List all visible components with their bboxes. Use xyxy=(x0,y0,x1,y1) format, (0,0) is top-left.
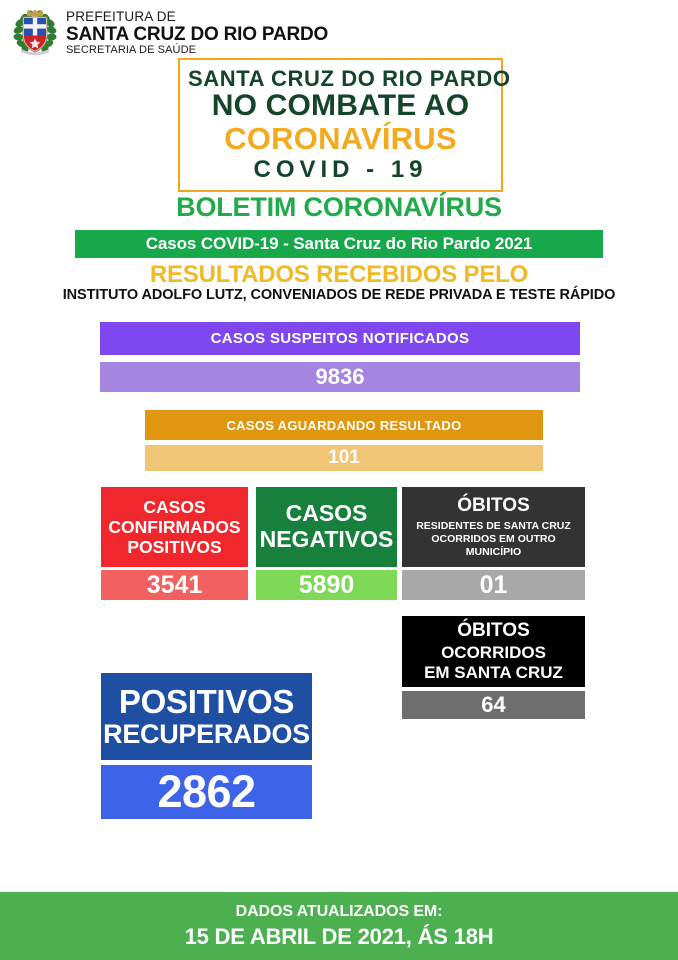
obitos-outro-label: ÓBITOS RESIDENTES DE SANTA CRUZ OCORRIDO… xyxy=(402,487,585,567)
coat-of-arms-icon xyxy=(13,9,57,57)
suspeitos-value-bar: 9836 xyxy=(100,362,580,392)
negativos-label: CASOS NEGATIVOS xyxy=(256,487,397,567)
suspeitos-label-bar: CASOS SUSPEITOS NOTIFICADOS xyxy=(100,322,580,355)
positivos-label: CASOS CONFIRMADOS POSITIVOS xyxy=(101,487,248,567)
negativos-label-line2: NEGATIVOS xyxy=(260,527,394,553)
positivos-value: 3541 xyxy=(101,570,248,600)
obitos-outro-value: 01 xyxy=(402,570,585,600)
brand-header: PREFEITURA DE SANTA CRUZ DO RIO PARDO SE… xyxy=(13,9,328,57)
brand-prefeitura-label: PREFEITURA DE xyxy=(66,10,328,24)
positivos-label-line2: CONFIRMADOS xyxy=(108,517,240,537)
aguardando-value-bar: 101 xyxy=(145,445,543,471)
casos-covid-green-bar: Casos COVID-19 - Santa Cruz do Rio Pardo… xyxy=(75,230,603,258)
title-line-city: SANTA CRUZ DO RIO PARDO xyxy=(188,67,493,90)
resultados-heading: RESULTADOS RECEBIDOS PELO xyxy=(0,261,678,289)
aguardando-label-bar: CASOS AGUARDANDO RESULTADO xyxy=(145,410,543,440)
obitos-sc-line2: OCORRIDOS xyxy=(441,643,546,663)
brand-text: PREFEITURA DE SANTA CRUZ DO RIO PARDO SE… xyxy=(66,10,328,56)
footer-date: 15 DE ABRIL DE 2021, ÁS 18H xyxy=(185,924,494,950)
recuperados-label: POSITIVOS RECUPERADOS xyxy=(101,673,312,760)
boletim-heading: BOLETIM CORONAVÍRUS xyxy=(0,192,678,223)
obitos-sc-line1: ÓBITOS xyxy=(457,620,530,642)
positivos-label-line3: POSITIVOS xyxy=(127,537,221,557)
negativos-label-line1: CASOS xyxy=(286,501,368,527)
positivos-label-line1: CASOS xyxy=(143,497,205,517)
obitos-sc-value: 64 xyxy=(402,691,585,719)
stat-card-recuperados: POSITIVOS RECUPERADOS 2862 xyxy=(101,673,312,819)
title-line-coronavirus: CORONAVÍRUS xyxy=(188,123,493,155)
recuperados-value: 2862 xyxy=(101,765,312,819)
stat-card-obitos-outro-municipio: ÓBITOS RESIDENTES DE SANTA CRUZ OCORRIDO… xyxy=(402,487,585,600)
obitos-outro-title: ÓBITOS xyxy=(457,495,530,516)
footer-update-bar: DADOS ATUALIZADOS EM: 15 DE ABRIL DE 202… xyxy=(0,892,678,960)
obitos-outro-sub-line2: OCORRIDOS EM OUTRO MUNICÍPIO xyxy=(406,533,581,559)
instituto-subheading: INSTITUTO ADOLFO LUTZ, CONVENIADOS DE RE… xyxy=(0,287,678,303)
brand-department-label: SECRETARIA DE SAÚDE xyxy=(66,45,328,56)
title-line-combate: NO COMBATE AO xyxy=(188,91,493,122)
recuperados-line2: RECUPERADOS xyxy=(103,720,310,748)
obitos-sc-label: ÓBITOS OCORRIDOS EM SANTA CRUZ xyxy=(402,616,585,687)
footer-label: DADOS ATUALIZADOS EM: xyxy=(236,903,443,921)
brand-city-name: SANTA CRUZ DO RIO PARDO xyxy=(66,25,328,44)
obitos-sc-line3: EM SANTA CRUZ xyxy=(424,663,563,683)
stat-card-obitos-santa-cruz: ÓBITOS OCORRIDOS EM SANTA CRUZ 64 xyxy=(402,616,585,719)
title-line-covid19: COVID - 19 xyxy=(188,157,493,182)
negativos-value: 5890 xyxy=(256,570,397,600)
title-banner: SANTA CRUZ DO RIO PARDO NO COMBATE AO CO… xyxy=(178,58,503,192)
obitos-outro-sub-line1: RESIDENTES DE SANTA CRUZ xyxy=(416,520,571,533)
stat-card-positivos: CASOS CONFIRMADOS POSITIVOS 3541 xyxy=(101,487,248,600)
recuperados-line1: POSITIVOS xyxy=(119,685,294,720)
stat-card-negativos: CASOS NEGATIVOS 5890 xyxy=(256,487,397,600)
